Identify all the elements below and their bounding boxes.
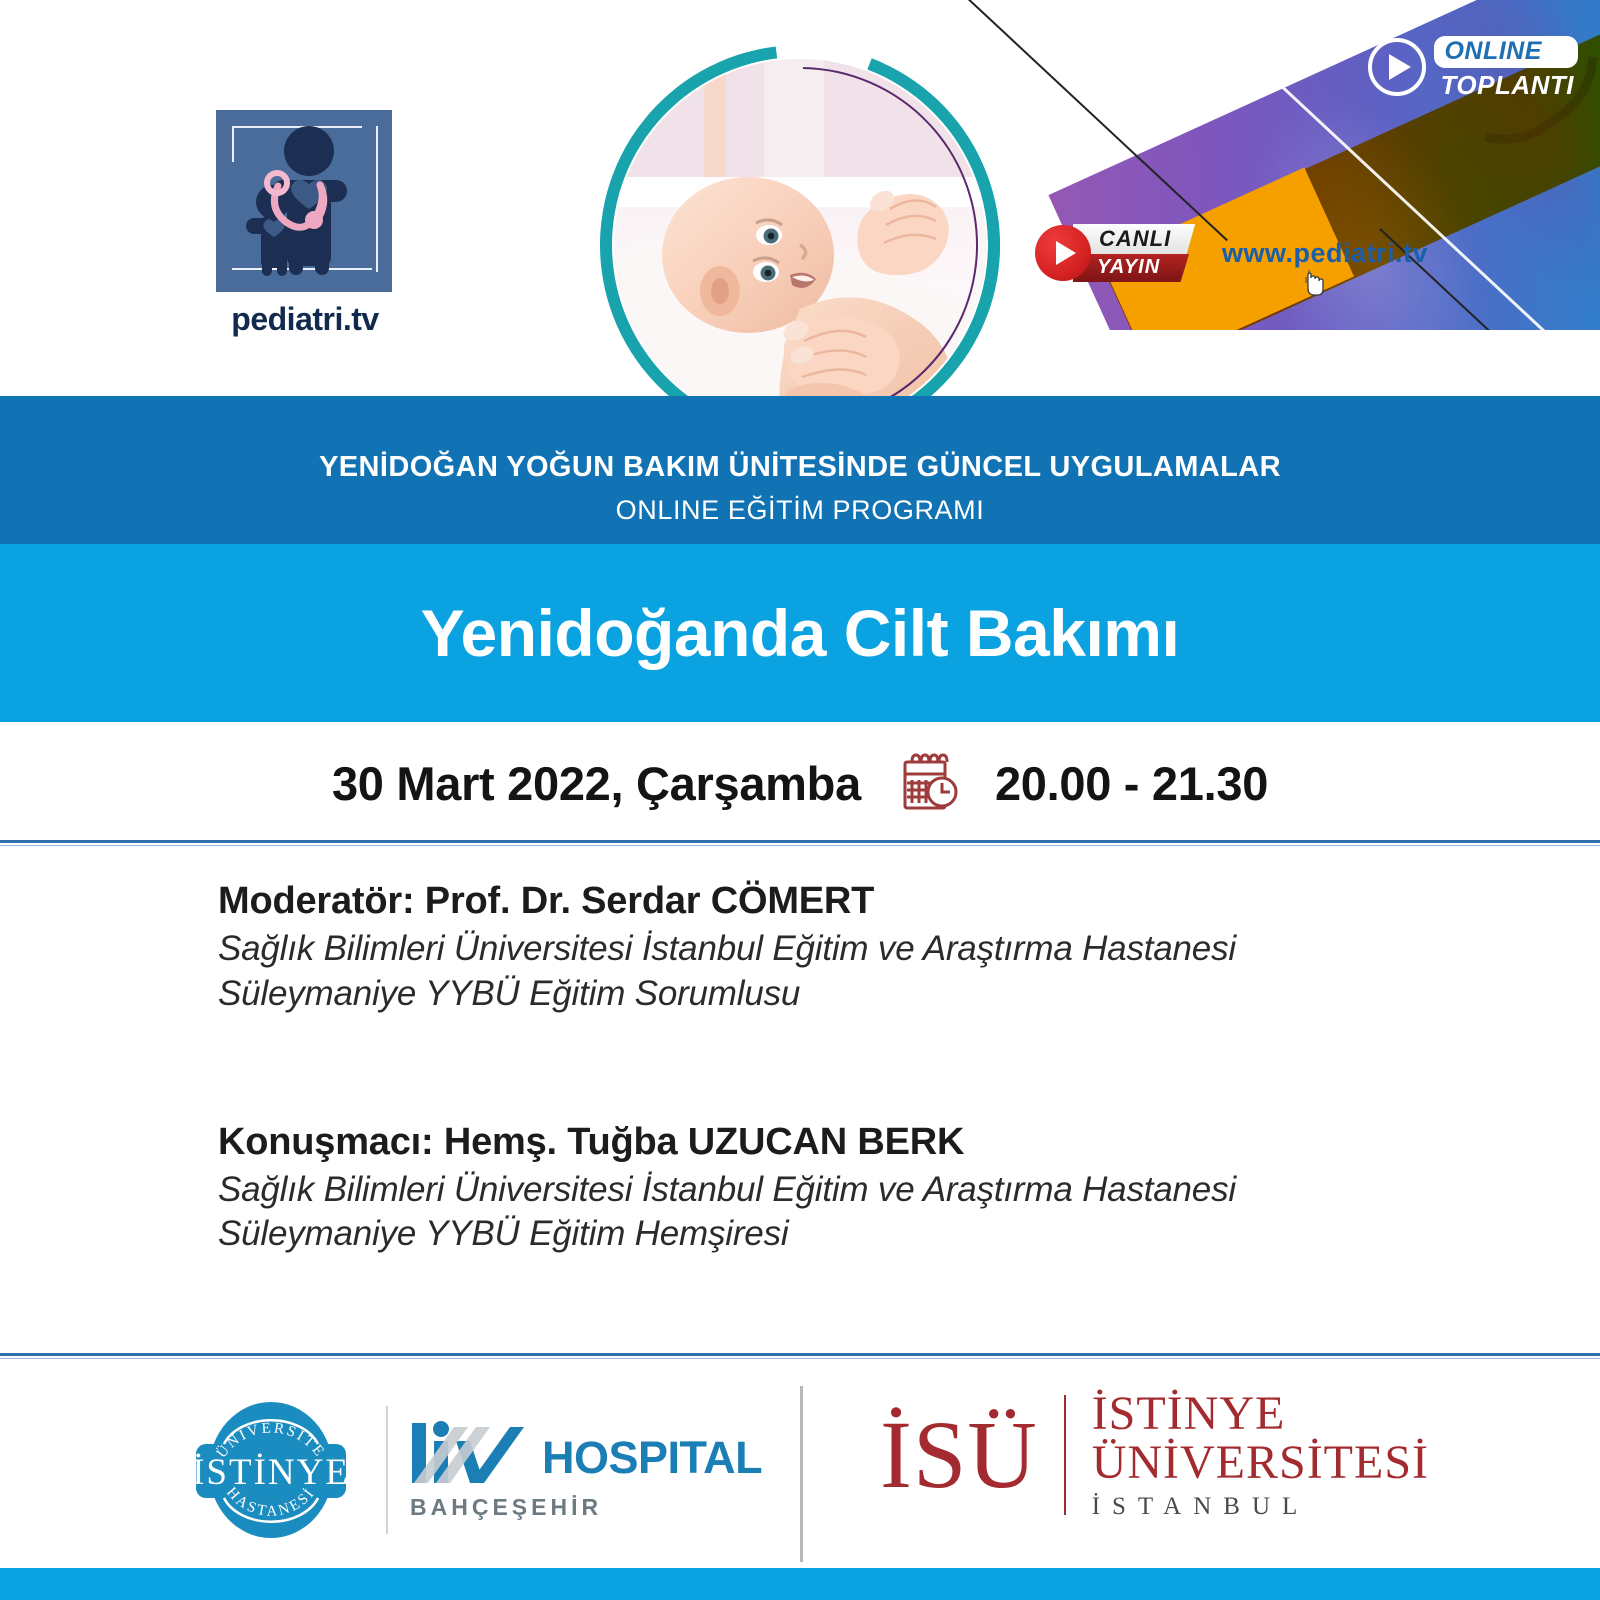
bottom-accent-strip <box>0 1568 1600 1600</box>
program-title: YENİDOĞAN YOĞUN BAKIM ÜNİTESİNDE GÜNCEL … <box>319 452 1281 484</box>
people-section: Moderatör: Prof. Dr. Serdar CÖMERT Sağlı… <box>218 880 1468 1257</box>
schedule-row: 30 Mart 2022, Çarşamba 20.00 - 21.30 <box>0 722 1600 844</box>
poster-root: ONLINE TOPLANTI CANLI YAYIN www.pediatri… <box>0 0 1600 1600</box>
calendar-clock-icon <box>895 750 961 816</box>
session-title: Yenidoğanda Cilt Bakımı <box>421 595 1180 671</box>
online-meeting-badge: ONLINE TOPLANTI <box>1368 36 1578 98</box>
speaker-name: Konuşmacı: Hemş. Tuğba UZUCAN BERK <box>218 1121 1468 1164</box>
moderator-name: Moderatör: Prof. Dr. Serdar CÖMERT <box>218 880 1468 923</box>
live-badge-text: CANLI YAYIN <box>1073 224 1195 282</box>
footer-vertical-divider <box>800 1386 803 1562</box>
pediatri-family-stethoscope-icon <box>216 110 392 292</box>
program-title-band: YENİDOĞAN YOĞUN BAKIM ÜNİTESİNDE GÜNCEL … <box>0 396 1600 544</box>
play-circle-icon <box>1368 38 1426 96</box>
event-time: 20.00 - 21.30 <box>995 756 1268 811</box>
liv-logo-row: HOSPITAL <box>410 1419 762 1487</box>
website-url-link[interactable]: www.pediatri.tv <box>1222 238 1428 269</box>
istinye-hospital-liv-logo: İSTİNYE ÜNİVERSİTE HASTANESİ <box>186 1394 762 1546</box>
moderator-affiliation-line2: Süleymaniye YYBÜ Eğitim Sorumlusu <box>218 972 1468 1017</box>
play-triangle-icon <box>1389 54 1411 80</box>
footer-logos: İSTİNYE ÜNİVERSİTE HASTANESİ <box>0 1358 1600 1568</box>
session-title-band: Yenidoğanda Cilt Bakımı <box>0 544 1600 722</box>
divider-above-footer <box>0 1353 1600 1356</box>
divider-above-people <box>0 840 1600 843</box>
live-badge-line1: CANLI <box>1073 224 1195 254</box>
hand-pointer-cursor-icon <box>1300 268 1326 298</box>
speaker-affiliation-line2: Süleymaniye YYBÜ Eğitim Hemşiresi <box>218 1212 1468 1257</box>
person-entry: Konuşmacı: Hemş. Tuğba UZUCAN BERK Sağlı… <box>218 1121 1468 1258</box>
liv-hospital-word: HOSPITAL <box>542 1432 762 1484</box>
svg-text:İSTİNYE: İSTİNYE <box>192 1452 350 1493</box>
person-entry: Moderatör: Prof. Dr. Serdar CÖMERT Sağlı… <box>218 880 1468 1017</box>
isu-monogram: İSÜ <box>880 1407 1038 1503</box>
live-badge-line2: YAYIN <box>1073 254 1195 282</box>
play-triangle-red-icon <box>1056 241 1076 265</box>
divider-above-people-thin <box>0 845 1600 846</box>
online-badge-line1: ONLINE <box>1434 36 1578 68</box>
liv-hospital-logo: HOSPITAL BAHÇEŞEHİR <box>386 1406 762 1534</box>
online-badge-line2: TOPLANTI <box>1434 68 1578 98</box>
program-subtitle: ONLINE EĞİTİM PROGRAMI <box>616 495 985 526</box>
hero-baby-photo-circle <box>600 45 1000 445</box>
isu-logo-text: İSTİNYE ÜNİVERSİTESİ İSTANBUL <box>1092 1390 1429 1519</box>
online-badge-text: ONLINE TOPLANTI <box>1434 36 1578 98</box>
speaker-affiliation-line1: Sağlık Bilimleri Üniversitesi İstanbul E… <box>218 1168 1468 1213</box>
people-spacer <box>218 1017 1468 1121</box>
pediatri-tv-wordmark: pediatri.tv <box>216 301 394 338</box>
event-date: 30 Mart 2022, Çarşamba <box>332 756 861 811</box>
isu-name-line1: İSTİNYE <box>1092 1390 1429 1439</box>
pediatri-tv-logo: pediatri.tv <box>216 110 394 338</box>
play-circle-red-icon <box>1035 225 1091 281</box>
isu-university-logo: İSÜ İSTİNYE ÜNİVERSİTESİ İSTANBUL <box>880 1390 1429 1519</box>
live-broadcast-badge: CANLI YAYIN <box>1035 222 1195 284</box>
liv-hospital-location: BAHÇEŞEHİR <box>410 1494 762 1521</box>
isu-name-line3: İSTANBUL <box>1092 1494 1429 1520</box>
isu-name-line2: ÜNİVERSİTESİ <box>1092 1439 1429 1488</box>
isu-logo-divider <box>1064 1395 1066 1515</box>
liv-mark-icon <box>410 1419 538 1487</box>
istinye-hastanesi-badge-icon: İSTİNYE ÜNİVERSİTE HASTANESİ <box>186 1394 356 1546</box>
moderator-affiliation-line1: Sağlık Bilimleri Üniversitesi İstanbul E… <box>218 927 1468 972</box>
